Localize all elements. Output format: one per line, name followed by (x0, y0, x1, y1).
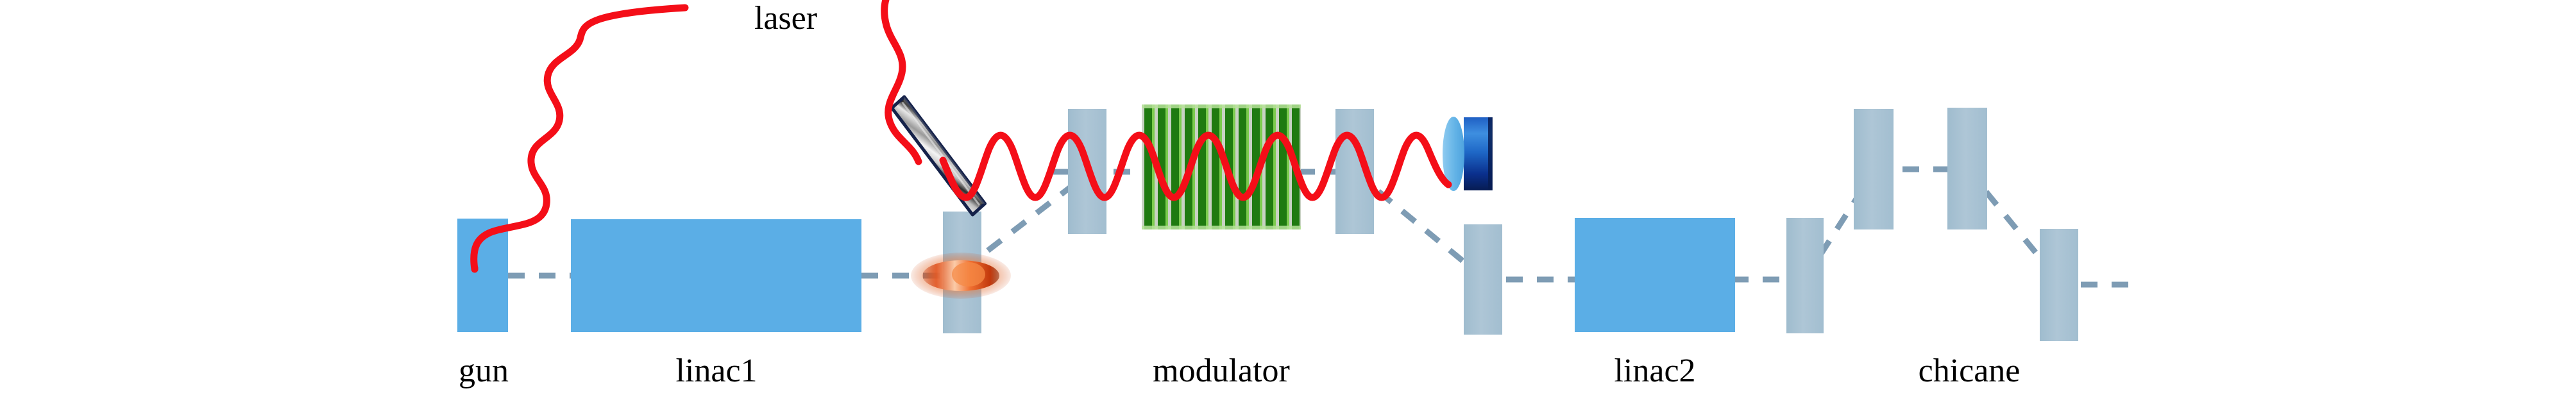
component-linac2[interactable] (1575, 218, 1735, 332)
laser-beam-dump[interactable] (1443, 117, 1493, 191)
beam-dump-cylinder-rim (1488, 117, 1493, 190)
label-modulator: modulator (1153, 353, 1290, 389)
label-linac2: linac2 (1614, 353, 1695, 389)
laser-injection-mirror[interactable] (883, 97, 994, 215)
component-linac1[interactable] (571, 219, 861, 332)
component-modulator[interactable] (1142, 104, 1301, 229)
component-quadrupole-4[interactable] (1464, 224, 1502, 335)
label-gun: gun (459, 353, 509, 389)
modulator-top-edge (1142, 104, 1301, 108)
electron-bunch (911, 253, 1011, 299)
electron-bunch-highlight (952, 262, 985, 287)
label-linac1: linac1 (675, 353, 757, 389)
label-laser: laser (754, 0, 817, 37)
component-chicane-dipole-2[interactable] (1947, 108, 1987, 229)
modulator-bottom-edge (1142, 226, 1301, 229)
component-chicane-dipole-3[interactable] (2040, 229, 2078, 341)
component-quadrupole-5[interactable] (1786, 218, 1824, 333)
schematic-canvas: laser gun linac1 modulator linac2 chican… (0, 0, 2576, 400)
component-chicane-dipole-1[interactable] (1854, 109, 1894, 229)
label-chicane: chicane (1919, 353, 2021, 389)
beam-dump-cylinder (1464, 117, 1492, 190)
beamline-figure: laser gun linac1 modulator linac2 chican… (0, 0, 2576, 400)
